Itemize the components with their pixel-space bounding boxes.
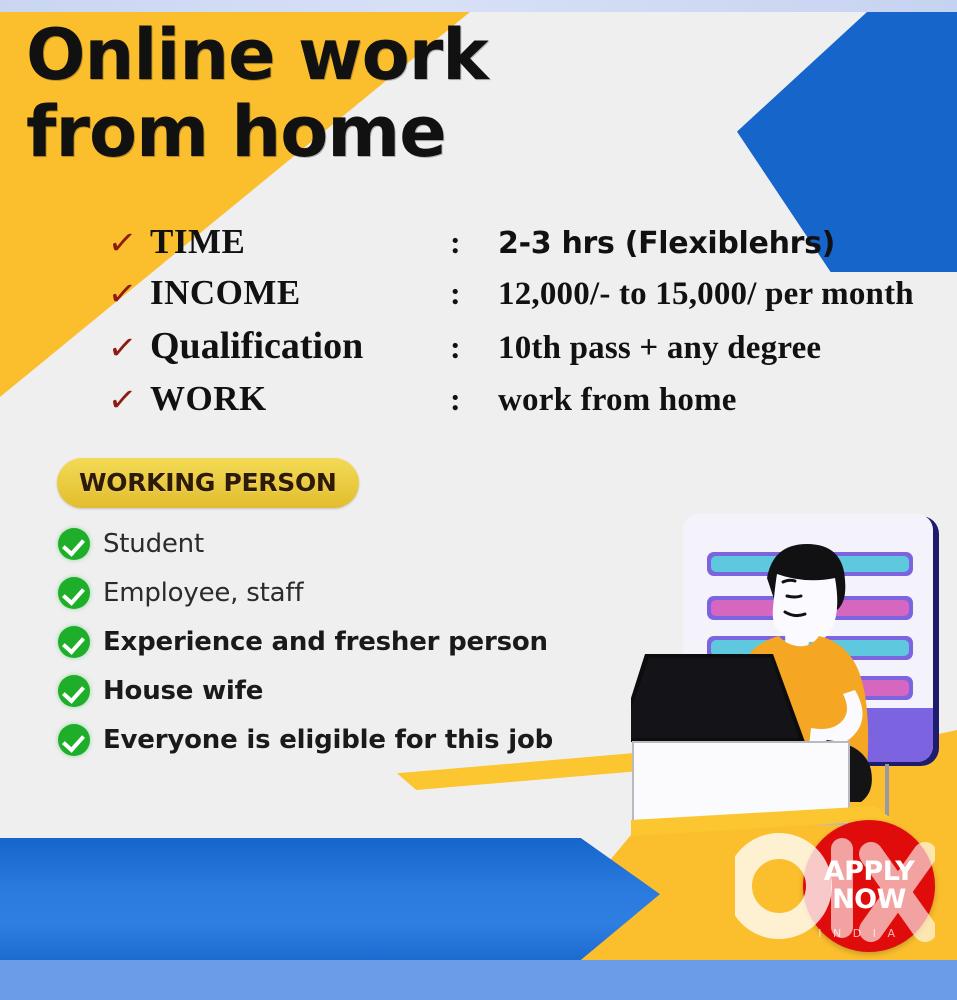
spec-value-income: 12,000/- to 15,000/ per month xyxy=(498,276,914,313)
spec-colon: : xyxy=(450,381,498,418)
olx-watermark-region: I N D I A xyxy=(818,927,899,940)
spec-colon: : xyxy=(450,275,498,312)
spec-value-qualification: 10th pass + any degree xyxy=(498,330,821,367)
red-tick-icon: ✓ xyxy=(106,382,151,420)
job-details-list: ✓ TIME : 2-3 hrs (Flexiblehrs) ✓ INCOME … xyxy=(108,222,948,430)
green-check-circle-icon xyxy=(58,675,90,707)
list-item-label: House wife xyxy=(103,676,263,706)
spec-label-qualification: Qualification xyxy=(150,324,450,368)
list-item: Experience and fresher person xyxy=(58,626,553,658)
spec-colon: : xyxy=(450,224,498,261)
green-check-circle-icon xyxy=(58,626,90,658)
spec-label-work: WORK xyxy=(150,379,450,419)
list-item-label: Everyone is eligible for this job xyxy=(103,725,553,755)
list-item: Student xyxy=(58,528,553,560)
green-check-circle-icon xyxy=(58,577,90,609)
person-working-on-laptop-illustration xyxy=(631,512,949,852)
spec-label-income: INCOME xyxy=(150,273,450,313)
green-check-circle-icon xyxy=(58,528,90,560)
list-item: Employee, staff xyxy=(58,577,553,609)
working-person-badge: WORKING PERSON xyxy=(57,458,359,508)
headline-line-1: Online work xyxy=(26,14,488,96)
list-item-label: Employee, staff xyxy=(103,578,303,608)
red-tick-icon: ✓ xyxy=(106,276,151,314)
green-check-circle-icon xyxy=(58,724,90,756)
list-item-label: Student xyxy=(103,529,204,559)
apply-now-line-2: NOW xyxy=(832,886,906,914)
headline-line-2: from home xyxy=(26,99,488,166)
spec-row-income: ✓ INCOME : 12,000/- to 15,000/ per month xyxy=(108,273,948,313)
spec-value-work: work from home xyxy=(498,382,737,419)
apply-now-line-1: APPLY xyxy=(824,858,915,886)
working-person-list: Student Employee, staff Experience and f… xyxy=(58,528,553,773)
working-person-badge-label: WORKING PERSON xyxy=(79,468,337,497)
bottom-left-blue-band xyxy=(0,838,660,960)
poster-canvas: Online work from home ✓ TIME : 2-3 hrs (… xyxy=(0,0,957,1000)
page-title: Online work from home xyxy=(26,22,488,165)
spec-value-time: 2-3 hrs (Flexiblehrs) xyxy=(498,226,835,261)
spec-row-qualification: ✓ Qualification : 10th pass + any degree xyxy=(108,324,948,368)
red-tick-icon: ✓ xyxy=(106,225,151,263)
spec-row-time: ✓ TIME : 2-3 hrs (Flexiblehrs) xyxy=(108,222,948,262)
spec-row-work: ✓ WORK : work from home xyxy=(108,379,948,419)
red-tick-icon: ✓ xyxy=(106,330,151,368)
top-edge-strip xyxy=(0,0,957,12)
list-item: Everyone is eligible for this job xyxy=(58,724,553,756)
list-item-label: Experience and fresher person xyxy=(103,627,548,657)
spec-colon: : xyxy=(450,329,498,366)
spec-label-time: TIME xyxy=(150,222,450,262)
list-item: House wife xyxy=(58,675,553,707)
bottom-edge-strip xyxy=(0,960,957,1000)
